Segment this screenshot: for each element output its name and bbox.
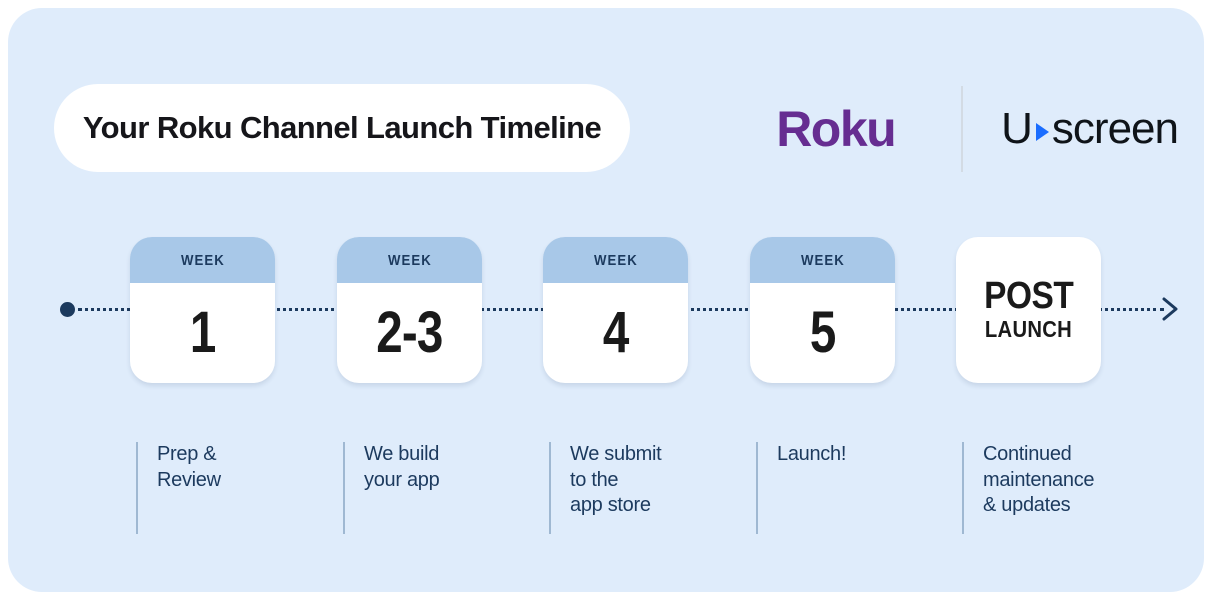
card-body: 4 [543,283,688,383]
play-triangle-icon [1036,123,1049,141]
card-body: 5 [750,283,895,383]
milestone-captions: Prep & ReviewWe build your appWe submit … [8,442,1204,534]
card-header: WEEK [130,237,275,283]
caption-week-5: Launch! [756,442,846,534]
card-header: WEEK [543,237,688,283]
card-header: WEEK [750,237,895,283]
title-pill: Your Roku Channel Launch Timeline [54,84,630,172]
milestone-cards: WEEK1WEEK2-3WEEK4WEEK5POSTLAUNCH [8,237,1204,385]
card-value: 1 [190,304,216,362]
card-value-top: POST [984,277,1073,316]
card-header-label: WEEK [594,252,638,269]
caption-text: Prep & Review [157,442,221,493]
card-value: 5 [810,304,836,362]
milestone-card-week-5[interactable]: WEEK5 [750,237,895,383]
logo-divider [961,86,963,172]
card-value: 2-3 [376,304,442,362]
milestone-card-week-1[interactable]: WEEK1 [130,237,275,383]
card-header-label: WEEK [388,252,432,269]
page-title: Your Roku Channel Launch Timeline [83,110,601,146]
milestone-card-week-2-3[interactable]: WEEK2-3 [337,237,482,383]
card-body: 1 [130,283,275,383]
caption-text: Continued maintenance & updates [983,442,1094,519]
roku-logo: Roku [758,104,913,154]
card-body: POSTLAUNCH [956,237,1101,383]
caption-week-2-3: We build your app [343,442,439,534]
card-header-label: WEEK [181,252,225,269]
milestone-card-week-4[interactable]: WEEK4 [543,237,688,383]
caption-week-1: Prep & Review [136,442,221,534]
card-body: 2-3 [337,283,482,383]
uscreen-wordmark: screen [1052,107,1178,151]
card-value: 4 [603,304,629,362]
card-header: WEEK [337,237,482,283]
milestone-card-post-launch[interactable]: POSTLAUNCH [956,237,1101,383]
logo-row: Roku U screen [758,86,1178,172]
caption-text: We build your app [364,442,439,493]
caption-text: Launch! [777,442,846,468]
card-header-label: WEEK [801,252,845,269]
uscreen-logo: U screen [1001,107,1178,151]
caption-text: We submit to the app store [570,442,661,519]
caption-post-launch: Continued maintenance & updates [962,442,1094,534]
card-value-bottom: LAUNCH [985,316,1072,342]
uscreen-u-letter: U [1001,107,1032,151]
infographic-canvas: Your Roku Channel Launch Timeline Roku U… [8,8,1204,592]
caption-week-4: We submit to the app store [549,442,661,534]
